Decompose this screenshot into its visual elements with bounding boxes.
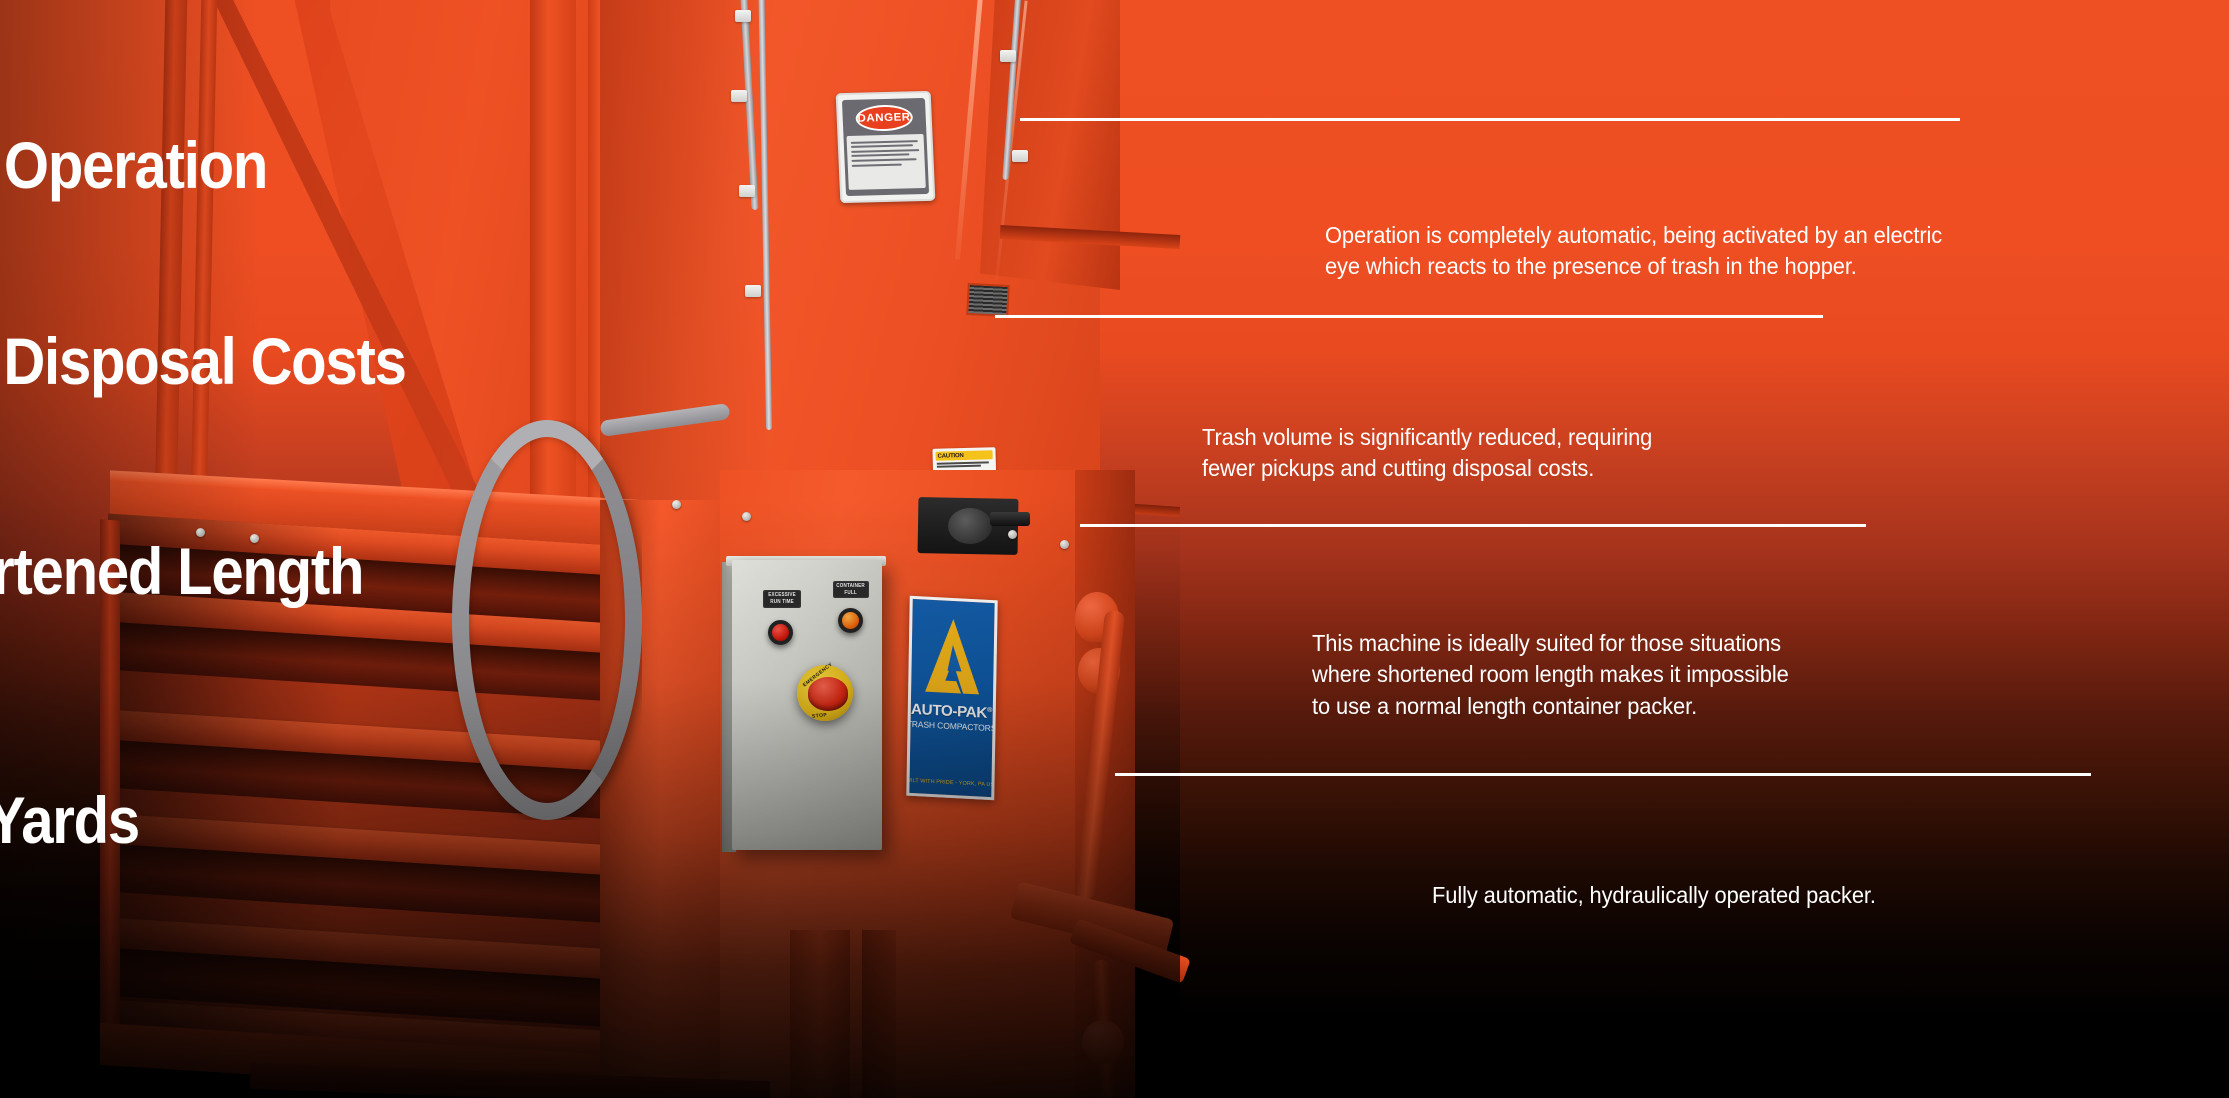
- auto-pak-footer: BUILT WITH PRIDE - YORK, PA USA: [906, 778, 997, 789]
- auto-pak-logo-mark: [923, 613, 982, 702]
- feature-title-automatic-operation: Automatic Operation: [0, 132, 267, 198]
- frame-post-left: [154, 0, 187, 525]
- feature-divider-3: [1080, 524, 1866, 527]
- indicator-label-text: EXCESSIVE RUN TIME: [768, 592, 796, 606]
- infographic-stage: DANGER CAUTION PRECAUCIÓN: [0, 0, 2229, 1098]
- conduit-clamp: [745, 285, 761, 297]
- indicator-lamp-container-full[interactable]: [838, 608, 863, 633]
- conduit-clamp: [731, 90, 747, 102]
- feature-divider-2: [995, 315, 1823, 318]
- frame-post-left-inner: [190, 0, 217, 520]
- vent-grill: [966, 283, 1010, 317]
- caution-band-english: CAUTION: [936, 450, 993, 460]
- danger-label-inner: DANGER: [842, 98, 929, 196]
- indicator-lamp-excessive-run-time[interactable]: [768, 620, 793, 645]
- feature-title-shortened-length: Shortened Length: [0, 538, 363, 604]
- feature-title-up-to-65-cubic-yards: Up to 65 Cubic Yards: [0, 787, 139, 853]
- registered-mark: ®: [987, 707, 992, 714]
- conduit-clamp: [735, 10, 751, 22]
- feature-body-automatic-operation: Operation is completely automatic, being…: [1325, 220, 1942, 283]
- support-leg-left: [790, 930, 850, 1098]
- conduit-clamp: [739, 185, 755, 197]
- danger-oval-badge: DANGER: [855, 104, 913, 131]
- flexible-conduit-loop: [452, 420, 642, 820]
- feature-divider-1: [1020, 118, 1960, 121]
- conduit-clamp: [1000, 50, 1016, 62]
- caution-label-english: CAUTION: [938, 453, 964, 460]
- auto-pak-brand-decal: AUTO-PAK® TRASH COMPACTORS BUILT WITH PR…: [906, 596, 997, 801]
- indicator-label-container-full: CONTAINER FULL: [833, 581, 869, 598]
- feature-body-shortened-length: This machine is ideally suited for those…: [1312, 628, 1789, 722]
- feature-body-save-disposal-costs: Trash volume is significantly reduced, r…: [1202, 422, 1652, 485]
- feature-title-save-disposal-costs: Save Disposal Costs: [0, 328, 406, 394]
- bracket-arm: [990, 512, 1030, 526]
- hydraulic-knuckle-bottom: [1082, 1020, 1124, 1064]
- conduit-clamp: [1012, 150, 1028, 162]
- indicator-label-text: CONTAINER FULL: [837, 583, 866, 597]
- bracket-pivot-pin: [948, 508, 992, 544]
- caution-text-english: [937, 461, 992, 469]
- feature-divider-4: [1115, 773, 2091, 776]
- danger-warning-label: DANGER: [836, 91, 936, 203]
- support-leg-right: [862, 930, 896, 1098]
- emergency-stop-mushroom-head[interactable]: [808, 677, 848, 711]
- feature-body-up-to-65-cubic-yards: Fully automatic, hydraulically operated …: [1432, 880, 1876, 911]
- indicator-label-excessive-run-time: EXCESSIVE RUN TIME: [763, 590, 801, 608]
- danger-label-heading: DANGER: [857, 111, 911, 124]
- danger-label-body-text: [846, 134, 925, 190]
